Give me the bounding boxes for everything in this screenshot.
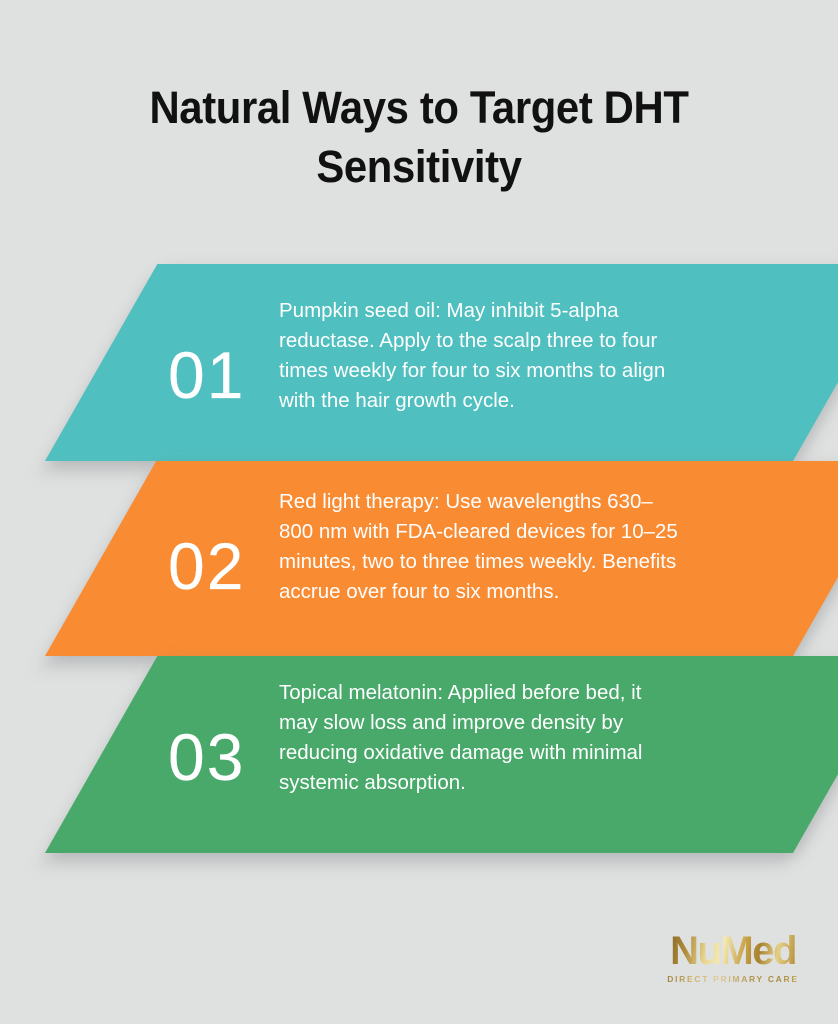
logo-tagline: DIRECT PRIMARY CARE [663, 974, 803, 984]
step-description: Red light therapy: Use wavelengths 630–8… [279, 487, 679, 607]
step-number: 02 [168, 533, 245, 599]
logo-wordmark: NuMed✦ [670, 931, 796, 971]
step-band-2: 02 Red light therapy: Use wavelengths 63… [0, 461, 838, 656]
sparkle-icon: ✦ [790, 927, 799, 936]
step-band-1: 01 Pumpkin seed oil: May inhibit 5-alpha… [0, 264, 838, 461]
infographic-root: Natural Ways to Target DHT Sensitivity 0… [0, 0, 838, 1024]
step-number: 01 [168, 342, 245, 408]
band-content: 01 Pumpkin seed oil: May inhibit 5-alpha… [0, 264, 838, 461]
brand-logo: NuMed✦ DIRECT PRIMARY CARE [663, 931, 803, 984]
logo-wordmark-text: NuMed [670, 929, 796, 973]
page-title: Natural Ways to Target DHT Sensitivity [85, 78, 753, 197]
step-band-3: 03 Topical melatonin: Applied before bed… [0, 656, 838, 853]
step-description: Topical melatonin: Applied before bed, i… [279, 678, 679, 798]
band-content: 03 Topical melatonin: Applied before bed… [0, 656, 838, 853]
step-number: 03 [168, 724, 245, 790]
step-description: Pumpkin seed oil: May inhibit 5-alpha re… [279, 296, 679, 416]
band-content: 02 Red light therapy: Use wavelengths 63… [0, 461, 838, 656]
